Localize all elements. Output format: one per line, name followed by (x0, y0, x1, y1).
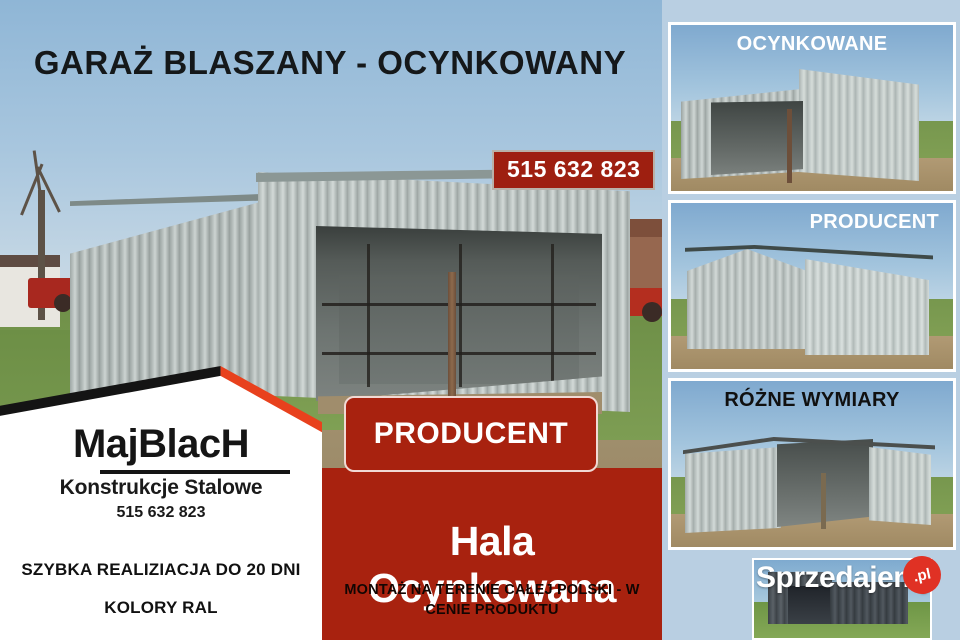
promo-delivery-time: SZYBKA REALIZIACJA DO 20 DNI (0, 560, 322, 580)
producent-badge-label: PRODUCENT (374, 417, 569, 451)
logo-panel: MajBlacH Konstrukcje Stalowe 515 632 823… (0, 366, 322, 640)
brand-name: MajBlacH (0, 422, 322, 467)
page-title: GARAŻ BLASZANY - OCYNKOWANY (0, 44, 660, 82)
building-open-front (316, 226, 602, 401)
thumbnail-label: OCYNKOWANE (671, 33, 953, 56)
brand-tagline: Konstrukcje Stalowe (0, 476, 322, 500)
thumb3-post (821, 473, 826, 529)
thumb3-left-wall (685, 447, 781, 533)
producent-badge[interactable]: PRODUCENT (344, 396, 598, 472)
phone-badge[interactable]: 515 632 823 (492, 150, 655, 190)
thumbnail-ocynkowane[interactable]: OCYNKOWANE (668, 22, 956, 194)
thumb3-right-wall (869, 447, 931, 525)
building-roof-edge-side (70, 194, 262, 206)
thumbnail-producent[interactable]: PRODUCENT (668, 200, 956, 372)
logo-phone-number[interactable]: 515 632 823 (0, 504, 322, 522)
logo-divider (100, 470, 290, 474)
thumb1-post (787, 109, 792, 183)
thumbnail-rozne-wymiary[interactable]: RÓŻNE WYMIARY (668, 378, 956, 550)
product-subtitle: MONTAŻ NA TERENIE CAŁEJ POLSKI - W CENIE… (332, 580, 652, 620)
advertisement-banner: GARAŻ BLASZANY - OCYNKOWANY 515 632 823 … (0, 0, 960, 640)
promo-ral-colors: KOLORY RAL (0, 598, 322, 618)
thumbnail-label: PRODUCENT (671, 211, 953, 234)
thumbnail-label: RÓŻNE WYMIARY (671, 389, 953, 412)
thumb1-front-wall (799, 69, 919, 181)
building-center-post (448, 272, 456, 402)
red-tractor-left (28, 278, 76, 308)
